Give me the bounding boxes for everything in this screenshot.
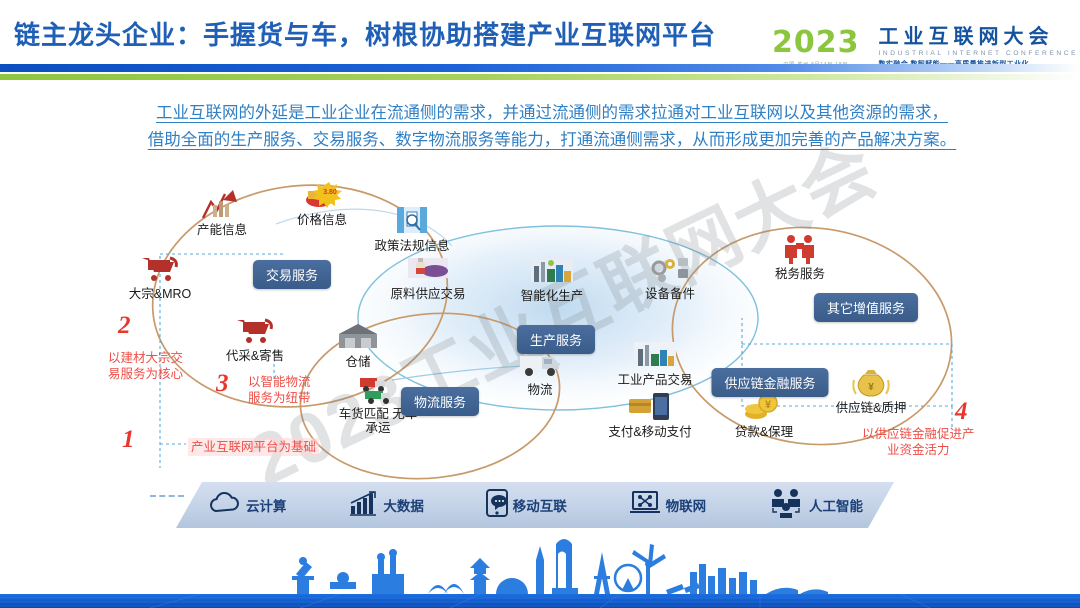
factory-icon: [529, 254, 575, 288]
material-barrel-icon: [405, 252, 451, 286]
ribbon-dashed-tail: [150, 495, 184, 501]
city-skyline-decoration: [0, 528, 1080, 608]
mobile-chat-icon: [486, 489, 508, 522]
node-label: 仓储: [345, 355, 370, 369]
node-material-supply: 原料供应交易: [373, 252, 483, 301]
node-label: 产能信息: [197, 223, 247, 237]
annotation-text-2: 以建材大宗交 易服务为核心: [108, 350, 183, 383]
node-label: 设备备件: [645, 287, 695, 301]
price-tag-icon: 3.80: [299, 178, 345, 212]
logo-name-cn: 工业互联网大会: [879, 27, 1079, 48]
node-tax-service: 税务服务: [745, 232, 855, 281]
ribbon-label: 物联网: [666, 495, 707, 515]
header-rule-blue: [0, 64, 1080, 72]
tax-people-icon: [777, 232, 823, 266]
gears-parts-icon: [647, 252, 693, 286]
node-agency-consign: 代采&寄售: [200, 314, 310, 363]
logo-name-en: INDUSTRIAL INTERNET CONFERENCE: [879, 50, 1079, 57]
shopping-cart-icon: [137, 252, 183, 286]
logo-year: 2023: [772, 28, 860, 58]
node-label: 智能化生产: [521, 289, 584, 303]
cloud-icon: [207, 490, 241, 521]
plant-icon: [632, 338, 678, 372]
page-title: 链主龙头企业：手握货与车，树根协助搭建产业互联网平台: [14, 15, 716, 52]
node-capacity-info: 产能信息: [167, 188, 277, 237]
shopping-cart-icon: [232, 314, 278, 348]
laptop-network-icon: [629, 489, 661, 522]
money-bag-icon: ¥: [848, 366, 894, 400]
node-label: 代采&寄售: [226, 349, 284, 363]
badge-trade-service[interactable]: 交易服务: [253, 260, 331, 289]
svg-text:¥: ¥: [868, 382, 874, 393]
node-label: 支付&移动支付: [608, 425, 691, 439]
annotation-number-1: 1: [122, 426, 135, 454]
node-smart-manufacture: 智能化生产: [497, 254, 607, 303]
node-label: 工业产品交易: [617, 373, 692, 387]
node-label: 价格信息: [297, 213, 347, 227]
ribbon-item-bigdata[interactable]: 大数据: [348, 490, 424, 521]
node-industrial-goods: 工业产品交易: [600, 338, 710, 387]
lead-paragraph: 工业互联网的外延是工业企业在流通侧的需求，并通过流通侧的需求拉通对工业互联网以及…: [52, 100, 1052, 153]
node-label: 贷款&保理: [735, 425, 793, 439]
tech-foundation-ribbon: 云计算 大数据: [176, 482, 894, 528]
ribbon-item-ai[interactable]: 人工智能: [768, 488, 863, 523]
lead-line-1: 工业互联网的外延是工业企业在流通侧的需求，并通过流通侧的需求拉通对工业互联网以及…: [52, 100, 1052, 127]
annotation-number-4: 4: [955, 398, 968, 426]
trucks-icon: [355, 372, 401, 406]
ecosystem-diagram: 2023工业互联网大会 产能信息 3.80: [0, 168, 1080, 528]
document-policy-icon: [389, 204, 435, 238]
node-bulk-mro: 大宗&MRO: [105, 252, 215, 301]
node-label: 大宗&MRO: [129, 287, 192, 301]
badge-logistics-service[interactable]: 物流服务: [401, 387, 479, 416]
lead-line-2: 借助全面的生产服务、交易服务、数字物流服务等能力，打通流通侧需求，从而形成更加完…: [52, 127, 1052, 154]
ribbon-item-cloud[interactable]: 云计算: [207, 490, 287, 521]
logo-text-block: 工业互联网大会 INDUSTRIAL INTERNET CONFERENCE 数…: [879, 27, 1079, 69]
annotation-number-3: 3: [216, 370, 229, 398]
ribbon-item-iot[interactable]: 物联网: [629, 489, 707, 522]
node-loan-factoring: ¥ 贷款&保理: [709, 390, 819, 439]
annotation-text-1: 产业互联网平台为基础: [188, 438, 319, 456]
annotation-number-2: 2: [118, 312, 131, 340]
node-label: 原料供应交易: [390, 287, 465, 301]
skyline-shapes: [292, 539, 828, 595]
annotation-text-3: 以智能物流 服务为纽带: [248, 374, 311, 407]
node-logistics: 物流: [485, 348, 595, 397]
ribbon-label: 移动互联: [513, 495, 567, 515]
node-label: 物流: [527, 383, 552, 397]
bar-chart-icon: [348, 490, 378, 521]
warehouse-icon: [335, 320, 381, 354]
node-warehouse: 仓储: [303, 320, 413, 369]
header-rule-green: [0, 74, 1080, 80]
ribbon-label: 大数据: [383, 495, 424, 515]
svg-text:3.80: 3.80: [323, 189, 337, 196]
logo-year-block: 2023 中国·苏州 8月14日-18日: [772, 28, 869, 68]
slide-header: 链主龙头企业：手握货与车，树根协助搭建产业互联网平台 2023 中国·苏州 8月…: [0, 0, 1080, 70]
node-supplychain-pledge: ¥ 供应链&质押: [816, 366, 926, 415]
node-payment: 支付&移动支付: [595, 390, 705, 439]
slide-root: 链主龙头企业：手握货与车，树根协助搭建产业互联网平台 2023 中国·苏州 8月…: [0, 0, 1080, 608]
card-phone-icon: [627, 390, 673, 424]
node-policy-info: 政策法规信息: [357, 204, 467, 253]
node-label: 税务服务: [775, 267, 825, 281]
ribbon-item-mobile[interactable]: 移动互联: [486, 489, 567, 522]
annotation-text-4: 以供应链金融促进产 业资金活力: [862, 426, 975, 459]
badge-production-service[interactable]: 生产服务: [517, 325, 595, 354]
people-ai-icon: [768, 488, 804, 523]
growth-arrow-icon: [199, 188, 245, 222]
badge-supplychain-finance[interactable]: 供应链金融服务: [711, 368, 828, 397]
ribbon-label: 云计算: [246, 495, 287, 515]
ribbon-label: 人工智能: [809, 495, 863, 515]
badge-other-value-added[interactable]: 其它增值服务: [814, 293, 918, 322]
node-label: 供应链&质押: [836, 401, 907, 415]
node-equipment-parts: 设备备件: [615, 252, 725, 301]
svg-text:¥: ¥: [765, 399, 772, 411]
